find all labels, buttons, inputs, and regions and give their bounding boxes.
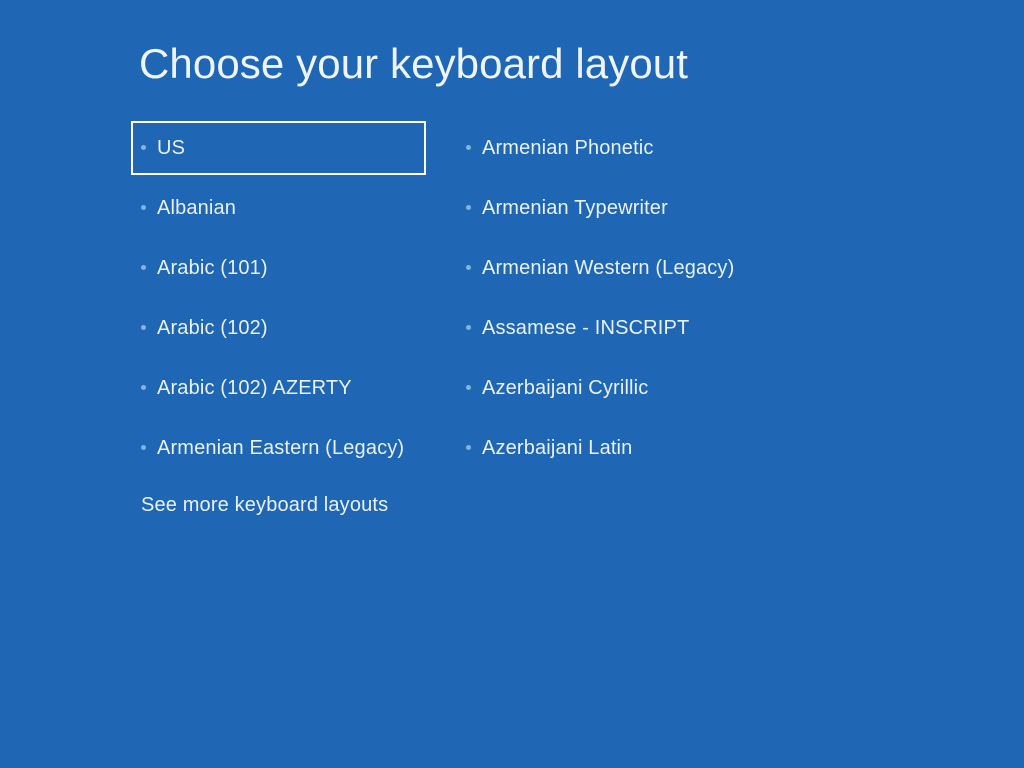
layout-option-label: Armenian Phonetic [482, 136, 654, 160]
layout-option-label: Assamese - INSCRIPT [482, 316, 689, 340]
layout-option-assamese-inscript[interactable]: Assamese - INSCRIPT [458, 301, 788, 355]
layout-option-arabic-102[interactable]: Arabic (102) [131, 301, 431, 355]
layout-option-label: Azerbaijani Cyrillic [482, 376, 648, 400]
layout-option-azerbaijani-latin[interactable]: Azerbaijani Latin [458, 421, 788, 475]
bullet-icon [466, 205, 471, 210]
keyboard-layout-list-column-1: US Albanian Arabic (101) Arabic (102) Ar… [131, 121, 431, 481]
bullet-icon [141, 265, 146, 270]
bullet-icon [141, 145, 146, 150]
layout-option-label: Azerbaijani Latin [482, 436, 632, 460]
bullet-icon [466, 145, 471, 150]
layout-option-label: Armenian Eastern (Legacy) [157, 436, 404, 460]
layout-option-label: Arabic (102) AZERTY [157, 376, 352, 400]
layout-option-armenian-phonetic[interactable]: Armenian Phonetic [458, 121, 788, 175]
layout-option-us[interactable]: US [131, 121, 426, 175]
layout-option-arabic-102-azerty[interactable]: Arabic (102) AZERTY [131, 361, 431, 415]
layout-option-arabic-101[interactable]: Arabic (101) [131, 241, 431, 295]
bullet-icon [141, 205, 146, 210]
bullet-icon [466, 445, 471, 450]
bullet-icon [466, 265, 471, 270]
layout-option-label: Arabic (102) [157, 316, 268, 340]
bullet-icon [466, 325, 471, 330]
layout-option-armenian-typewriter[interactable]: Armenian Typewriter [458, 181, 788, 235]
layout-option-label: Arabic (101) [157, 256, 268, 280]
layout-option-armenian-western-legacy[interactable]: Armenian Western (Legacy) [458, 241, 788, 295]
layout-option-albanian[interactable]: Albanian [131, 181, 431, 235]
keyboard-layout-screen: Choose your keyboard layout US Albanian … [0, 0, 1024, 768]
see-more-keyboard-layouts-link[interactable]: See more keyboard layouts [141, 492, 388, 518]
layout-option-azerbaijani-cyrillic[interactable]: Azerbaijani Cyrillic [458, 361, 788, 415]
bullet-icon [141, 325, 146, 330]
layout-option-label: Armenian Typewriter [482, 196, 668, 220]
bullet-icon [466, 385, 471, 390]
layout-option-label: Armenian Western (Legacy) [482, 256, 734, 280]
bullet-icon [141, 445, 146, 450]
layout-option-label: Albanian [157, 196, 236, 220]
layout-option-label: US [157, 136, 185, 160]
keyboard-layout-list-column-2: Armenian Phonetic Armenian Typewriter Ar… [458, 121, 788, 481]
layout-option-armenian-eastern-legacy[interactable]: Armenian Eastern (Legacy) [131, 421, 431, 475]
page-title: Choose your keyboard layout [139, 38, 688, 90]
bullet-icon [141, 385, 146, 390]
